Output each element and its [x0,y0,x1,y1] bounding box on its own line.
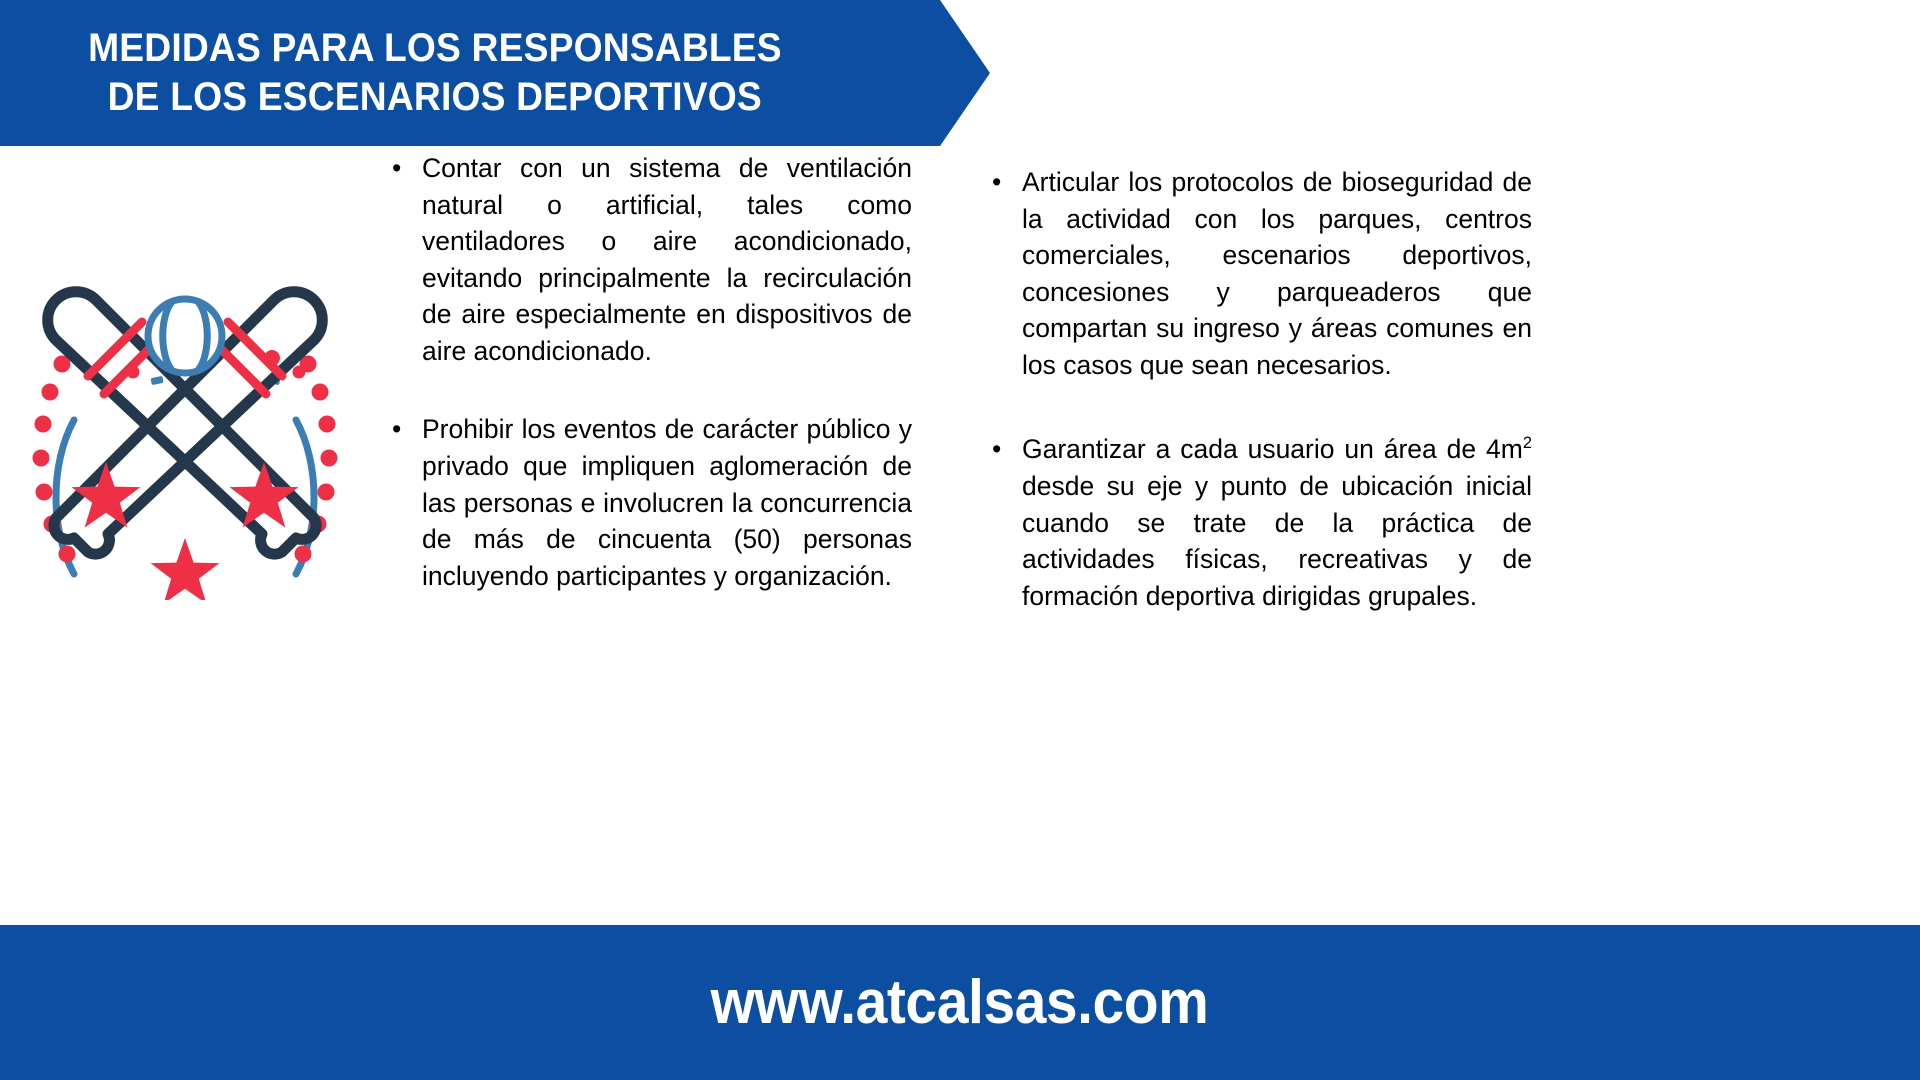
bullet-text: Prohibir los eventos de carácter público… [422,411,912,594]
bullet-marker-icon: • [392,150,422,187]
bullet-marker-icon: • [992,431,1022,468]
bullet-item: • Prohibir los eventos de carácter públi… [392,411,912,594]
header-title-block: MEDIDAS PARA LOS RESPONSABLES DE LOS ESC… [0,0,870,146]
header-banner: MEDIDAS PARA LOS RESPONSABLES DE LOS ESC… [0,0,990,146]
left-bullet-column: • Contar con un sistema de ventilación n… [392,146,912,594]
website-url[interactable]: www.atcalsas.com [711,967,1209,1038]
bullet-text: Articular los protocolos de bioseguridad… [1022,164,1532,383]
bullet-text: Garantizar a cada usuario un área de 4m2… [1022,431,1532,614]
bullet-text: Contar con un sistema de ventilación nat… [422,150,912,369]
bullet-item: • Garantizar a cada usuario un área de 4… [992,431,1532,614]
bullet-item: • Contar con un sistema de ventilación n… [392,150,912,369]
header-title-line-1: MEDIDAS PARA LOS RESPONSABLES [88,26,782,71]
footer-bar: www.atcalsas.com [0,925,1920,1080]
bullet-marker-icon: • [992,164,1022,201]
superscript-two: 2 [1523,435,1532,453]
content-area: • Contar con un sistema de ventilación n… [0,146,1920,926]
right-bullet-column: • Articular los protocolos de biosegurid… [992,146,1532,614]
header-title-line-2: DE LOS ESCENARIOS DEPORTIVOS [108,75,762,120]
bullet-marker-icon: • [392,411,422,448]
bullet-item: • Articular los protocolos de biosegurid… [992,164,1532,383]
